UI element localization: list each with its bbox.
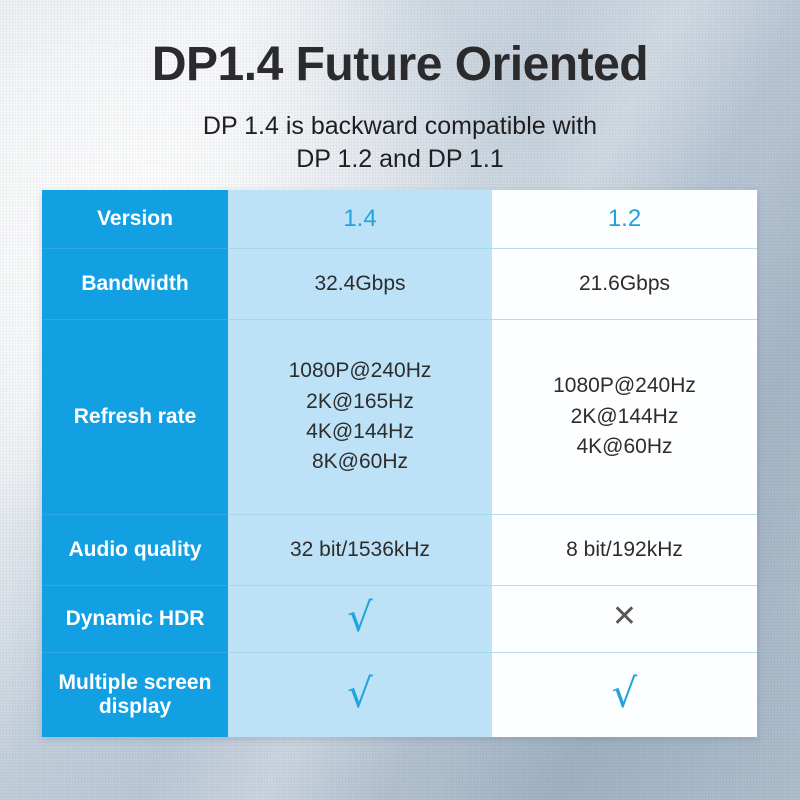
refresh-dp14-line-4: 8K@60Hz [228,447,492,477]
cell-version-dp14: 1.4 [228,190,492,249]
cell-audio-dp12: 8 bit/192kHz [492,515,757,586]
cell-multi-dp12: √ [492,653,757,738]
cell-version-dp12: 1.2 [492,190,757,249]
refresh-dp14-line-3: 4K@144Hz [228,417,492,447]
subtitle-line-2: DP 1.2 and DP 1.1 [0,143,800,176]
refresh-dp14-line-2: 2K@165Hz [228,387,492,417]
check-icon: √ [612,674,638,714]
row-label-audio-quality: Audio quality [42,515,228,586]
subtitle-line-1: DP 1.4 is backward compatible with [0,110,800,143]
row-label-multiple-screen-display: Multiple screen display [42,653,228,738]
table-row-multiple-screen-display: Multiple screen display √ √ [42,653,757,738]
check-icon: √ [347,674,373,714]
row-label-bandwidth: Bandwidth [42,249,228,320]
cell-multi-dp14: √ [228,653,492,738]
cell-hdr-dp12: ✕ [492,586,757,653]
row-label-dynamic-hdr: Dynamic HDR [42,586,228,653]
refresh-dp14-line-1: 1080P@240Hz [228,356,492,386]
table-row-version: Version 1.4 1.2 [42,190,757,249]
cell-audio-dp14: 32 bit/1536kHz [228,515,492,586]
row-label-version: Version [42,190,228,249]
spec-comparison-table: Version 1.4 1.2 Bandwidth 32.4Gbps 21.6G… [42,190,757,737]
version-value-dp12: 1.2 [608,205,641,232]
table-row-audio-quality: Audio quality 32 bit/1536kHz 8 bit/192kH… [42,515,757,586]
cell-refresh-dp14: 1080P@240Hz 2K@165Hz 4K@144Hz 8K@60Hz [228,320,492,515]
refresh-dp12-line-2: 2K@144Hz [492,402,757,432]
cross-icon: ✕ [612,602,637,632]
version-value-dp14: 1.4 [343,205,376,232]
refresh-dp12-line-1: 1080P@240Hz [492,371,757,401]
refresh-dp12-line-3: 4K@60Hz [492,432,757,462]
multi-label-line-2: display [42,695,228,719]
row-label-refresh-rate: Refresh rate [42,320,228,515]
cell-hdr-dp14: √ [228,586,492,653]
cell-bandwidth-dp12: 21.6Gbps [492,249,757,320]
cell-bandwidth-dp14: 32.4Gbps [228,249,492,320]
table-row-bandwidth: Bandwidth 32.4Gbps 21.6Gbps [42,249,757,320]
table-row-refresh-rate: Refresh rate 1080P@240Hz 2K@165Hz 4K@144… [42,320,757,515]
multi-label-line-1: Multiple screen [42,671,228,695]
page-title: DP1.4 Future Oriented [0,40,800,90]
page-subtitle: DP 1.4 is backward compatible with DP 1.… [0,110,800,176]
cell-refresh-dp12: 1080P@240Hz 2K@144Hz 4K@60Hz [492,320,757,515]
page-root: DP1.4 Future Oriented DP 1.4 is backward… [0,0,800,800]
table-row-dynamic-hdr: Dynamic HDR √ ✕ [42,586,757,653]
check-icon: √ [347,598,373,638]
